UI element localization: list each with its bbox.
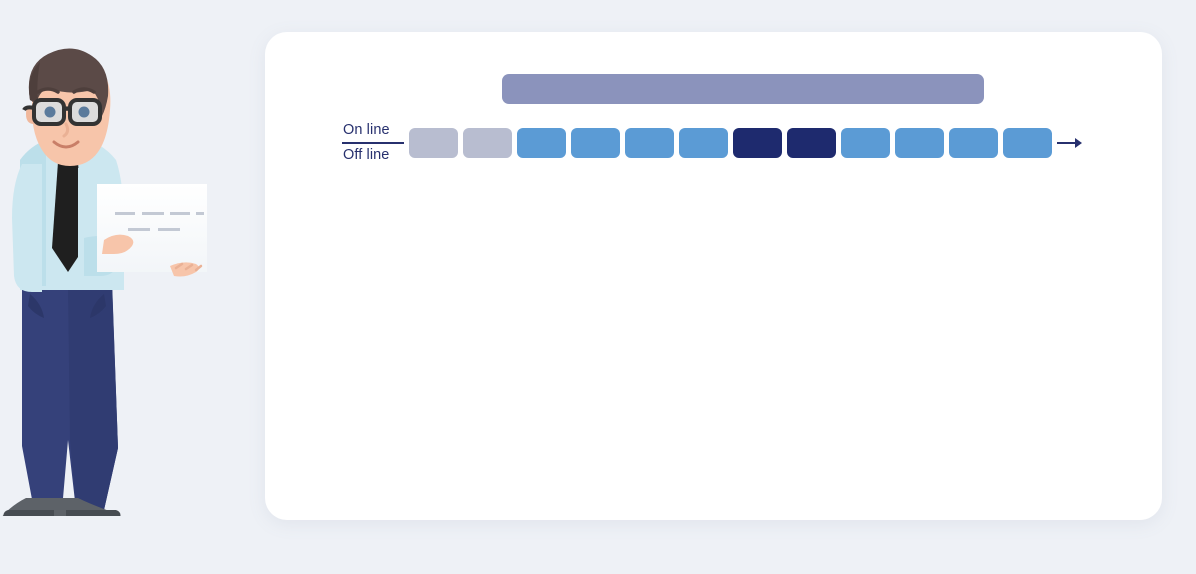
legend-divider [342,142,404,144]
legend-label-online: On line [343,120,399,141]
timeline-block-6[interactable] [679,128,728,158]
timeline-block-3[interactable] [517,128,566,158]
timeline-block-11[interactable] [949,128,998,158]
online-offline-timeline: On line Off line [343,120,1083,166]
timeline-block-2[interactable] [463,128,512,158]
timeline-block-10[interactable] [895,128,944,158]
teacher-illustration [0,48,215,516]
timeline-block-5[interactable] [625,128,674,158]
arrow-right-icon [1057,136,1083,150]
timeline-block-12[interactable] [1003,128,1052,158]
timeline-block-9[interactable] [841,128,890,158]
timeline-block-track [409,128,1052,158]
title-banner [502,74,984,104]
timeline-block-8[interactable] [787,128,836,158]
timeline-block-1[interactable] [409,128,458,158]
timeline-legend: On line Off line [343,120,399,166]
content-card: On line Off line [265,32,1162,520]
timeline-block-7[interactable] [733,128,782,158]
timeline-block-4[interactable] [571,128,620,158]
legend-label-offline: Off line [343,145,399,166]
